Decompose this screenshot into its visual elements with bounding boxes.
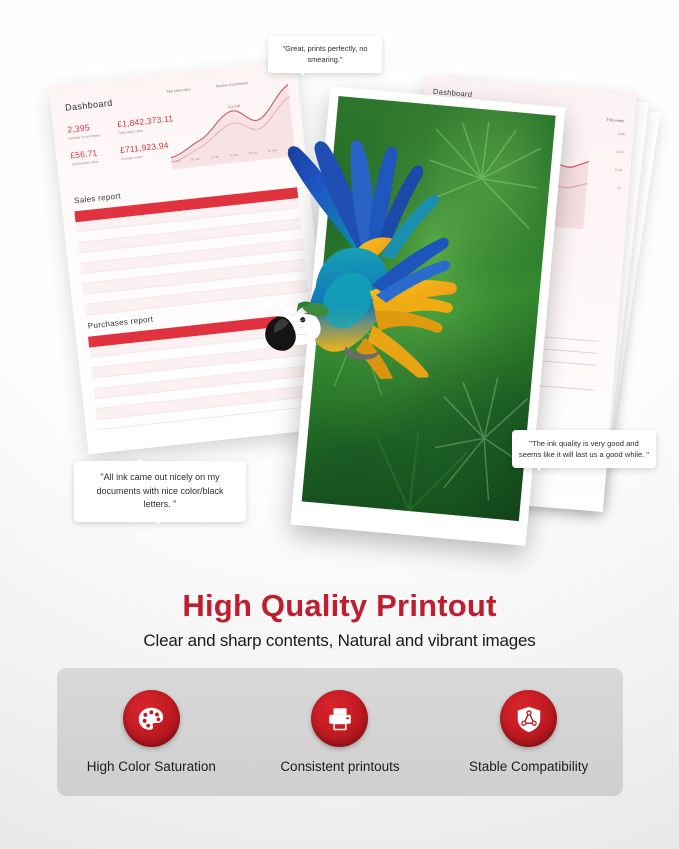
y-tick: £10k — [615, 168, 623, 173]
page-subtitle: Clear and sharp contents, Natural and vi… — [0, 631, 679, 651]
section-title-purchases: Purchases report — [87, 315, 153, 331]
y-tick: £0 — [613, 186, 621, 191]
y-tick: £20k — [616, 150, 624, 155]
printed-sheet-left-report: Dashboard 2,395 Number of purchases £1,8… — [49, 60, 336, 455]
left-dashboard-title: Dashboard — [65, 98, 113, 113]
testimonial-bubble-left: "All ink came out nicely on my documents… — [74, 461, 246, 522]
left-report-content: Dashboard 2,395 Number of purchases £1,8… — [49, 60, 336, 455]
feature-high-color-saturation: High Color Saturation — [61, 690, 242, 774]
metric-label: Number of purchases — [68, 133, 101, 140]
metric-basket-value: £56.71 Total basket value — [70, 148, 99, 167]
metric-label: Total basket value — [71, 160, 98, 167]
metric-average-value: £711,923.94 Average value — [119, 140, 169, 161]
page-title: High Quality Printout — [0, 588, 679, 624]
feature-label: High Color Saturation — [87, 759, 216, 774]
feature-consistent-printouts: Consistent printouts — [249, 690, 430, 774]
hero-print-showcase: Dashboard Total sales value Number of pu… — [0, 0, 679, 575]
feature-stable-compatibility: Stable Compatibility — [438, 690, 619, 774]
palette-glyph — [136, 704, 166, 734]
metric-purchases: 2,395 Number of purchases — [67, 121, 101, 140]
printed-photo-sheet — [291, 86, 566, 546]
testimonial-bubble-top: "Great, prints perfectly, no smearing." — [268, 36, 382, 73]
metric-value: £56.71 — [70, 148, 98, 161]
feature-label: Stable Compatibility — [469, 759, 588, 774]
shield-compatibility-icon — [500, 690, 557, 747]
y-tick: £30k — [618, 132, 626, 137]
printer-icon — [311, 690, 368, 747]
color-palette-icon — [123, 690, 180, 747]
feature-panel: High Color Saturation Consistent printou… — [57, 668, 623, 796]
testimonial-bubble-right: "The ink quality is very good and seems … — [512, 430, 656, 468]
section-title-sales: Sales report — [74, 191, 121, 205]
page-background: Dashboard Total sales value Number of pu… — [0, 0, 679, 849]
shield-glyph — [514, 704, 544, 734]
printer-glyph — [325, 704, 355, 734]
right-y-axis: £30k £20k £10k £0 — [613, 132, 625, 190]
feature-label: Consistent printouts — [280, 759, 399, 774]
